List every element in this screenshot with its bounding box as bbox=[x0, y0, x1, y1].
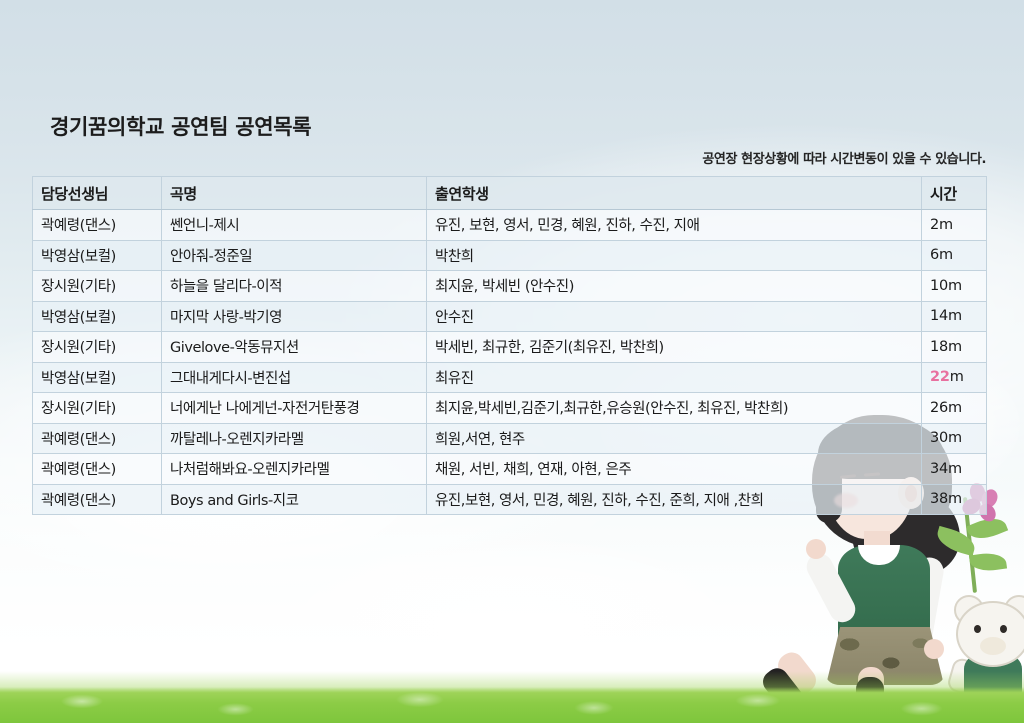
cell-song: 나처럼해봐요-오렌지카라멜 bbox=[162, 454, 427, 485]
cell-students: 최지윤, 박세빈 (안수진) bbox=[427, 271, 922, 302]
page-title: 경기꿈의학교 공연팀 공연목록 bbox=[50, 111, 311, 141]
table-row: 곽예령(댄스)Boys and Girls-지코유진,보현, 영서, 민경, 혜… bbox=[33, 484, 987, 515]
table-row: 박영삼(보컬)마지막 사랑-박기영안수진14m bbox=[33, 301, 987, 332]
table-row: 장시원(기타)Givelove-악동뮤지션박세빈, 최규한, 김준기(최유진, … bbox=[33, 332, 987, 363]
cell-time: 38m bbox=[922, 484, 987, 515]
cell-students: 최유진 bbox=[427, 362, 922, 393]
schedule-notice: 공연장 현장상황에 따라 시간변동이 있을 수 있습니다. bbox=[702, 148, 986, 167]
column-header-student: 출연학생 bbox=[427, 177, 922, 210]
cell-song: 까탈레나-오렌지카라멜 bbox=[162, 423, 427, 454]
cell-teacher: 박영삼(보컬) bbox=[33, 240, 162, 271]
time-value-highlighted: 22 bbox=[930, 369, 950, 385]
cell-time: 6m bbox=[922, 240, 987, 271]
table-row: 박영삼(보컬)그대내게다시-변진섭최유진22m bbox=[33, 362, 987, 393]
cell-teacher: 장시원(기타) bbox=[33, 393, 162, 424]
table-row: 박영삼(보컬)안아줘-정준일박찬희6m bbox=[33, 240, 987, 271]
table-body: 곽예령(댄스)쎈언니-제시유진, 보현, 영서, 민경, 혜원, 진하, 수진,… bbox=[33, 210, 987, 515]
table-row: 곽예령(댄스)나처럼해봐요-오렌지카라멜채원, 서빈, 채희, 연재, 아현, … bbox=[33, 454, 987, 485]
cell-teacher: 박영삼(보컬) bbox=[33, 362, 162, 393]
cell-teacher: 장시원(기타) bbox=[33, 271, 162, 302]
cell-students: 희원,서연, 현주 bbox=[427, 423, 922, 454]
table-row: 곽예령(댄스)쎈언니-제시유진, 보현, 영서, 민경, 혜원, 진하, 수진,… bbox=[33, 210, 987, 241]
table-row: 장시원(기타)너에게난 나에게넌-자전거탄풍경최지윤,박세빈,김준기,최규한,유… bbox=[33, 393, 987, 424]
cell-teacher: 곽예령(댄스) bbox=[33, 423, 162, 454]
table-header-row: 담당선생님 곡명 출연학생 시간 bbox=[33, 177, 987, 210]
cell-song: 너에게난 나에게넌-자전거탄풍경 bbox=[162, 393, 427, 424]
column-header-song: 곡명 bbox=[162, 177, 427, 210]
table-row: 장시원(기타)하늘을 달리다-이적최지윤, 박세빈 (안수진)10m bbox=[33, 271, 987, 302]
slide-canvas: 경기꿈의학교 공연팀 공연목록 공연장 현장상황에 따라 시간변동이 있을 수 … bbox=[0, 0, 1024, 723]
cell-time: 18m bbox=[922, 332, 987, 363]
cell-students: 박찬희 bbox=[427, 240, 922, 271]
table-row: 곽예령(댄스)까탈레나-오렌지카라멜희원,서연, 현주30m bbox=[33, 423, 987, 454]
cell-students: 유진,보현, 영서, 민경, 혜원, 진하, 수진, 준희, 지애 ,찬희 bbox=[427, 484, 922, 515]
cell-teacher: 곽예령(댄스) bbox=[33, 484, 162, 515]
cell-students: 채원, 서빈, 채희, 연재, 아현, 은주 bbox=[427, 454, 922, 485]
cell-time: 22m bbox=[922, 362, 987, 393]
table-header: 담당선생님 곡명 출연학생 시간 bbox=[33, 177, 987, 210]
cell-song: 쎈언니-제시 bbox=[162, 210, 427, 241]
cell-song: 안아줘-정준일 bbox=[162, 240, 427, 271]
cell-students: 유진, 보현, 영서, 민경, 혜원, 진하, 수진, 지애 bbox=[427, 210, 922, 241]
cell-song: 마지막 사랑-박기영 bbox=[162, 301, 427, 332]
cell-teacher: 박영삼(보컬) bbox=[33, 301, 162, 332]
cell-teacher: 장시원(기타) bbox=[33, 332, 162, 363]
cell-song: 하늘을 달리다-이적 bbox=[162, 271, 427, 302]
performance-schedule-table: 담당선생님 곡명 출연학생 시간 곽예령(댄스)쎈언니-제시유진, 보현, 영서… bbox=[32, 176, 987, 515]
cell-song: 그대내게다시-변진섭 bbox=[162, 362, 427, 393]
column-header-time: 시간 bbox=[922, 177, 987, 210]
cell-students: 박세빈, 최규한, 김준기(최유진, 박찬희) bbox=[427, 332, 922, 363]
cell-time: 14m bbox=[922, 301, 987, 332]
cell-time: 10m bbox=[922, 271, 987, 302]
cell-time: 30m bbox=[922, 423, 987, 454]
cell-students: 최지윤,박세빈,김준기,최규한,유승원(안수진, 최유진, 박찬희) bbox=[427, 393, 922, 424]
cell-teacher: 곽예령(댄스) bbox=[33, 454, 162, 485]
slide-content: 경기꿈의학교 공연팀 공연목록 공연장 현장상황에 따라 시간변동이 있을 수 … bbox=[0, 0, 1024, 723]
cell-teacher: 곽예령(댄스) bbox=[33, 210, 162, 241]
cell-time: 34m bbox=[922, 454, 987, 485]
cell-time: 26m bbox=[922, 393, 987, 424]
cell-song: Boys and Girls-지코 bbox=[162, 484, 427, 515]
cell-song: Givelove-악동뮤지션 bbox=[162, 332, 427, 363]
cell-students: 안수진 bbox=[427, 301, 922, 332]
column-header-teacher: 담당선생님 bbox=[33, 177, 162, 210]
cell-time: 2m bbox=[922, 210, 987, 241]
time-unit: m bbox=[950, 369, 964, 385]
